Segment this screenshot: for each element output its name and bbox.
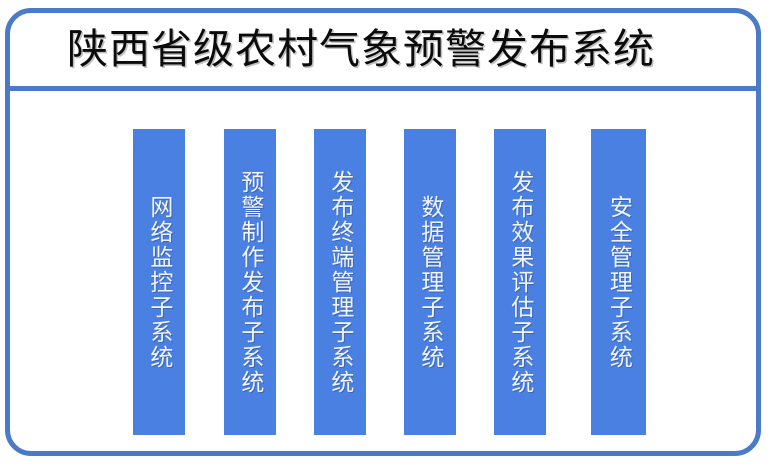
- subsystem-bar-warning-production-release[interactable]: 预警制作发布子系统: [224, 129, 276, 435]
- subsystem-bar-data-management[interactable]: 数据管理子系统: [404, 129, 456, 435]
- subsystem-bar-terminal-management[interactable]: 发布终端管理子系统: [314, 129, 366, 435]
- subsystem-label: 预警制作发布子系统: [234, 170, 266, 395]
- subsystem-bars-container: 网络监控子系统 预警制作发布子系统 发布终端管理子系统 数据管理子系统 发布效果…: [5, 91, 761, 456]
- diagram-title-band: 陕西省级农村气象预警发布系统: [5, 8, 761, 91]
- subsystem-label: 网络监控子系统: [143, 195, 175, 370]
- subsystem-label: 发布效果评估子系统: [504, 170, 536, 395]
- subsystem-label: 发布终端管理子系统: [324, 170, 356, 395]
- subsystem-label: 安全管理子系统: [603, 195, 635, 370]
- subsystem-bar-network-monitoring[interactable]: 网络监控子系统: [133, 129, 185, 435]
- subsystem-bar-release-effect-evaluation[interactable]: 发布效果评估子系统: [494, 129, 546, 435]
- subsystem-bar-security-management[interactable]: 安全管理子系统: [591, 129, 646, 435]
- system-architecture-diagram: 陕西省级农村气象预警发布系统 网络监控子系统 预警制作发布子系统 发布终端管理子…: [0, 0, 776, 469]
- page-title: 陕西省级农村气象预警发布系统: [67, 29, 655, 70]
- subsystem-label: 数据管理子系统: [414, 195, 446, 370]
